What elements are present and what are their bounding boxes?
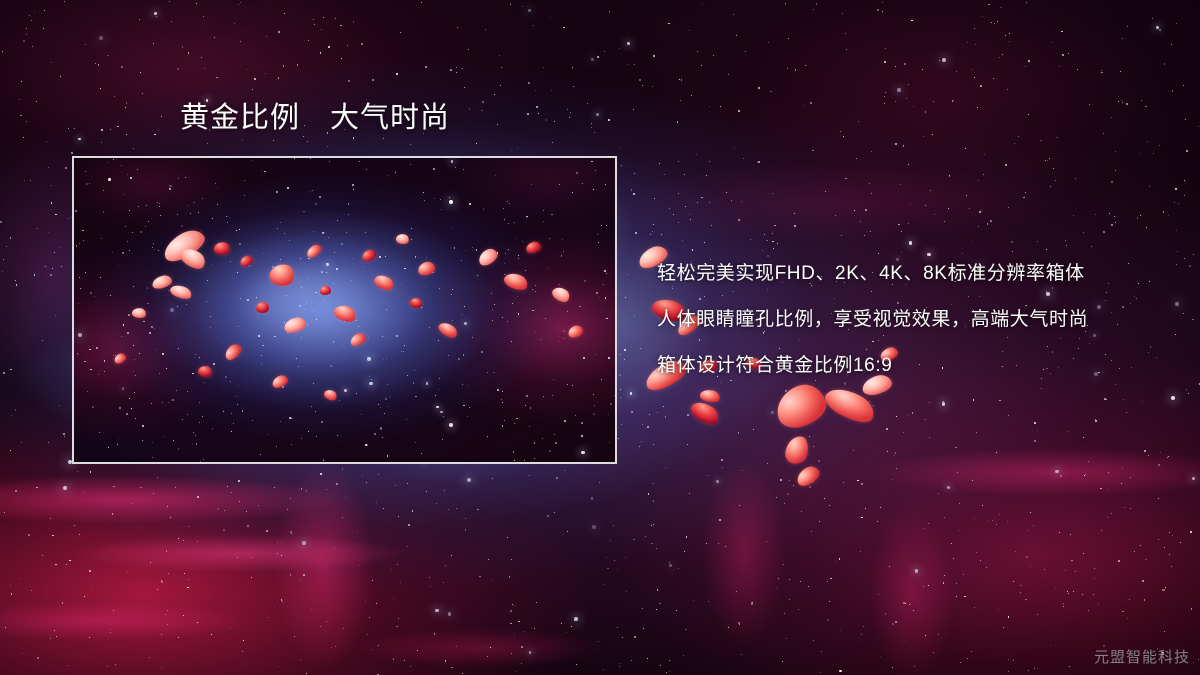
page-title: 黄金比例 大气时尚 — [180, 102, 450, 134]
display-preview-frame[interactable] — [72, 156, 617, 464]
flower-petal — [699, 388, 721, 404]
description-line-3: 箱体设计符合黄金比例16:9 — [657, 350, 1088, 377]
feature-description: 轻松完美实现FHD、2K、4K、8K标准分辨率箱体 人体眼睛瞳孔比例，享受视觉效… — [657, 258, 1088, 377]
flower-petal — [688, 397, 723, 429]
flower-petal — [783, 434, 810, 466]
preview-nebula-image — [74, 158, 615, 462]
brand-watermark: 元盟智能科技 — [1094, 646, 1190, 667]
flower-petal — [771, 379, 831, 432]
presentation-slide: 黄金比例 大气时尚 轻松完美实现FHD、2K、4K、8K标准分辨率箱体 人体眼睛… — [0, 0, 1200, 675]
description-line-1: 轻松完美实现FHD、2K、4K、8K标准分辨率箱体 — [657, 258, 1088, 285]
flower-petal — [794, 463, 823, 489]
flower-petal — [821, 381, 879, 428]
description-line-2: 人体眼睛瞳孔比例，享受视觉效果，高端大气时尚 — [657, 304, 1088, 331]
